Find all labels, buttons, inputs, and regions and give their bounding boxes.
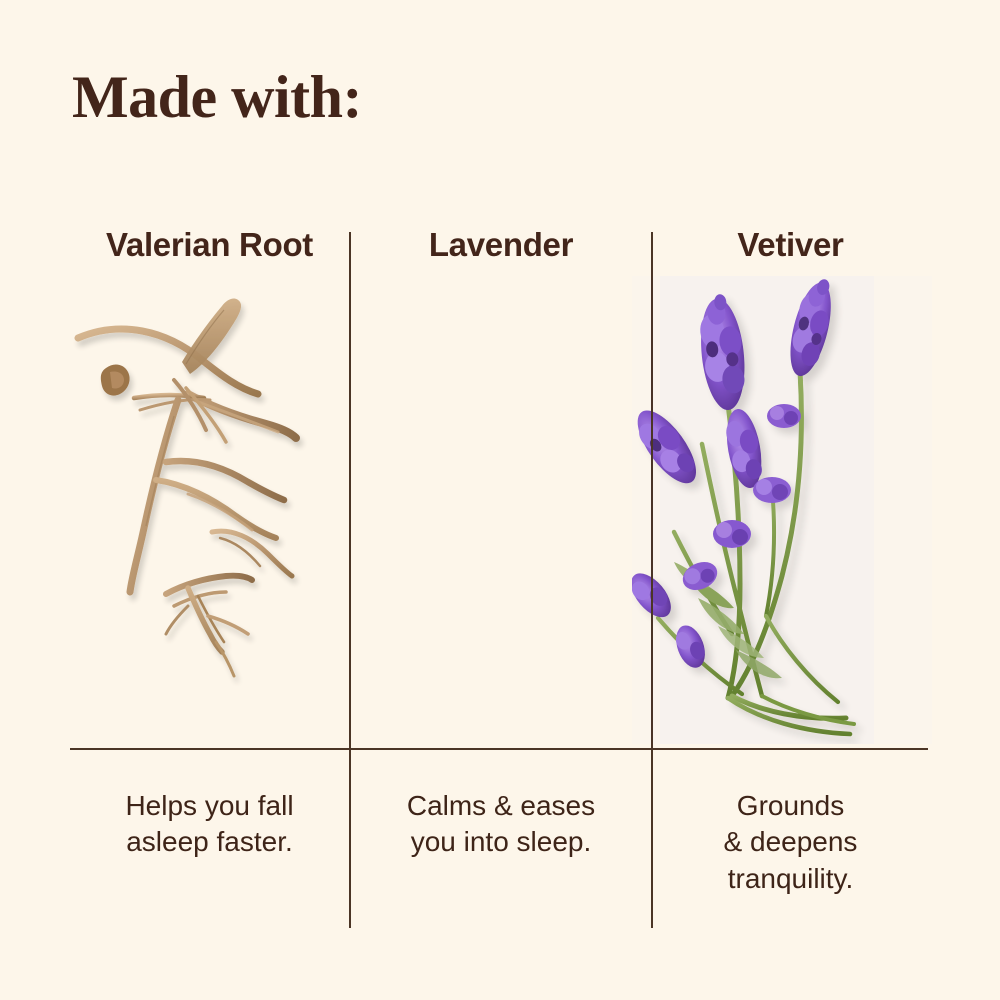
ingredient-caption-valerian-root: Helps you fall asleep faster. — [70, 788, 349, 861]
ingredient-header-valerian-root: Valerian Root — [70, 226, 349, 264]
ingredient-header-vetiver: Vetiver — [653, 226, 928, 264]
ingredient-column-lavender: Lavender — [351, 218, 651, 930]
ingredient-grid: Valerian Root — [70, 218, 928, 930]
column-divider-left — [349, 232, 351, 928]
valerian-root-photo — [70, 276, 349, 744]
ingredient-caption-lavender: Calms & eases you into sleep. — [351, 788, 651, 861]
ingredient-column-vetiver: Vetiver — [653, 218, 928, 930]
made-with-panel: Made with: Valerian Root — [0, 0, 1000, 1000]
ingredient-header-lavender: Lavender — [351, 226, 651, 264]
ingredient-column-valerian-root: Valerian Root — [70, 218, 349, 930]
horizontal-divider — [70, 748, 928, 750]
ingredient-caption-vetiver: Grounds & deepens tranquility. — [653, 788, 928, 897]
valerian-root-illustration — [70, 276, 349, 744]
page-title: Made with: — [72, 66, 362, 129]
column-divider-right — [651, 232, 653, 928]
